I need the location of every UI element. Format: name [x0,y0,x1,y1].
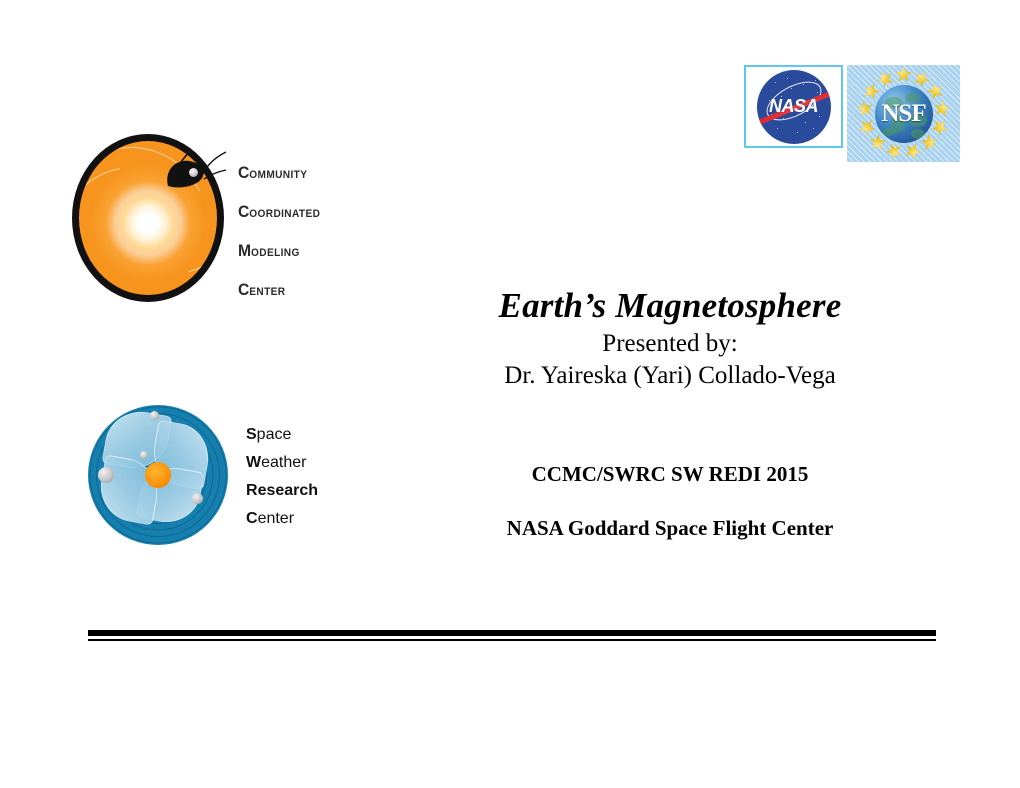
swrc-wordmark-line: Space [246,427,356,443]
swrc-wordmark-line: Center [246,511,356,527]
ccmc-magnetosphere-icon [162,148,228,194]
nsf-logo: NSF [847,65,960,162]
bottom-double-rule [88,630,936,641]
swrc-line-initial: S [246,426,257,443]
ccmc-earth-icon [189,168,198,177]
nsf-star-icon [884,141,905,162]
ccmc-line-rest: OORDINATED [249,208,320,220]
swrc-line-initial: W [246,454,261,471]
swrc-planet-icon [192,493,203,504]
swrc-planet-icon [150,411,159,420]
ccmc-wordmark-line: CENTER [238,281,330,298]
swrc-sun-core-icon [145,462,171,488]
swrc-logo: Space Weather Research Center [88,405,348,550]
ccmc-logo: COMMUNITY COORDINATED MODELING CENTER [70,122,340,312]
title-block: Earth’s Magnetosphere Presented by: Dr. … [410,286,930,391]
presenter-name: Dr. Yaireska (Yari) Collado-Vega [410,361,930,391]
ccmc-sun-graphic [70,130,228,308]
agency-logo-band: NASA NSF [744,65,960,163]
ccmc-line-rest: OMMUNITY [249,169,307,181]
swrc-line-initial: R [246,482,258,499]
page-title: Earth’s Magnetosphere [410,286,930,325]
ccmc-line-rest: ODELING [251,247,300,259]
swrc-line-rest: eather [261,454,306,471]
presented-by-label: Presented by: [410,329,930,359]
rule-thick-bar [88,630,936,636]
nasa-disc-icon: NASA [757,70,831,144]
swrc-wordmark-line: Research [246,483,356,499]
ccmc-wordmark-line: COORDINATED [238,203,330,220]
ccmc-wordmark-line: COMMUNITY [238,164,330,181]
rule-thin-bar [88,639,936,641]
swrc-wordmark: Space Weather Research Center [246,427,356,527]
nsf-wordmark: NSF [881,100,925,128]
swrc-wordmark-line: Weather [246,455,356,471]
venue-name: NASA Goddard Space Flight Center [410,516,930,541]
nsf-star-icon [903,141,924,162]
ccmc-line-initial: C [238,163,249,182]
swrc-planet-icon [140,451,148,459]
nasa-wordmark: NASA [757,96,831,117]
ccmc-line-rest: ENTER [249,286,285,298]
nasa-logo: NASA [744,65,843,148]
swrc-line-initial: C [246,510,258,527]
nsf-star-icon [895,66,912,83]
ccmc-line-initial: C [238,280,249,299]
title-slide: NASA NSF [0,0,1020,788]
nsf-continent-shape [883,127,895,136]
event-name: CCMC/SWRC SW REDI 2015 [410,462,930,487]
nsf-star-icon [933,99,952,118]
ccmc-wordmark-line: MODELING [238,242,330,259]
ccmc-line-initial: M [238,241,251,260]
nsf-star-icon [855,99,874,118]
event-block: CCMC/SWRC SW REDI 2015 NASA Goddard Spac… [410,462,930,541]
ccmc-wordmark: COMMUNITY COORDINATED MODELING CENTER [238,164,338,298]
swrc-line-rest: enter [258,510,294,527]
swrc-line-rest: esearch [258,482,319,499]
swrc-line-rest: pace [257,426,292,443]
nsf-continent-shape [911,129,925,139]
swrc-planet-icon [98,467,114,483]
ccmc-line-initial: C [238,202,249,221]
swrc-disc-icon [88,405,228,545]
